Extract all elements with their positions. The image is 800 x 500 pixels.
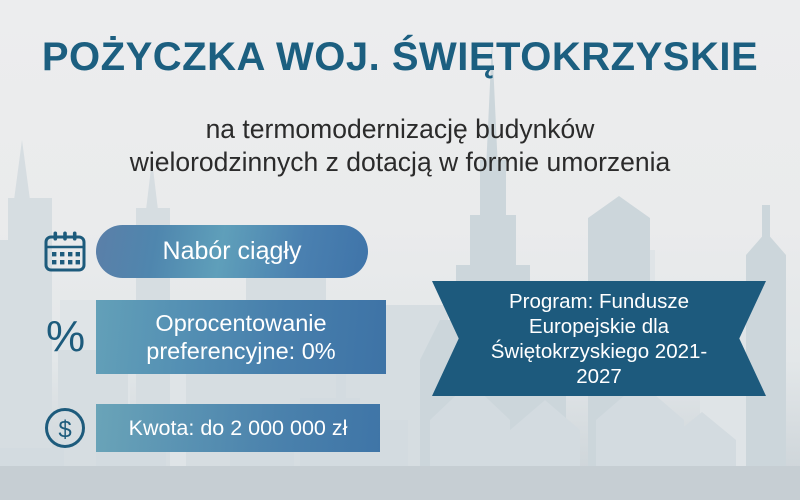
- poster-subtitle: na termomodernizację budynków wielorodzi…: [30, 113, 770, 180]
- chip-nabor-ciagly: Nabór ciągły: [96, 225, 368, 278]
- feature-row-nabor: Nabór ciągły: [34, 220, 368, 282]
- chip-oprocentowanie: Oprocentowanie preferencyjne: 0%: [96, 300, 386, 374]
- program-ribbon-text: Program: Fundusze Europejskie dla Święto…: [468, 289, 730, 389]
- poster-title: POŻYCZKA WOJ. ŚWIĘTOKRZYSKIE: [0, 36, 800, 78]
- feature-row-kwota: $ Kwota: do 2 000 000 zł: [34, 400, 380, 456]
- chip-oprocentowanie-label: Oprocentowanie preferencyjne: 0%: [146, 309, 335, 365]
- chip-kwota: Kwota: do 2 000 000 zł: [96, 404, 380, 452]
- percent-icon: %: [34, 301, 96, 373]
- chip-kwota-label: Kwota: do 2 000 000 zł: [129, 416, 348, 441]
- feature-row-oprocentowanie: % Oprocentowanie preferencyjne: 0%: [34, 300, 386, 374]
- poster-canvas: POŻYCZKA WOJ. ŚWIĘTOKRZYSKIE na termomod…: [0, 0, 800, 500]
- chip-nabor-label: Nabór ciągły: [163, 237, 302, 266]
- dollar-circle-icon: $: [34, 400, 96, 456]
- percent-glyph: %: [46, 315, 84, 359]
- svg-text:$: $: [58, 417, 71, 444]
- program-ribbon: Program: Fundusze Europejskie dla Święto…: [432, 281, 766, 396]
- calendar-icon: [34, 220, 96, 282]
